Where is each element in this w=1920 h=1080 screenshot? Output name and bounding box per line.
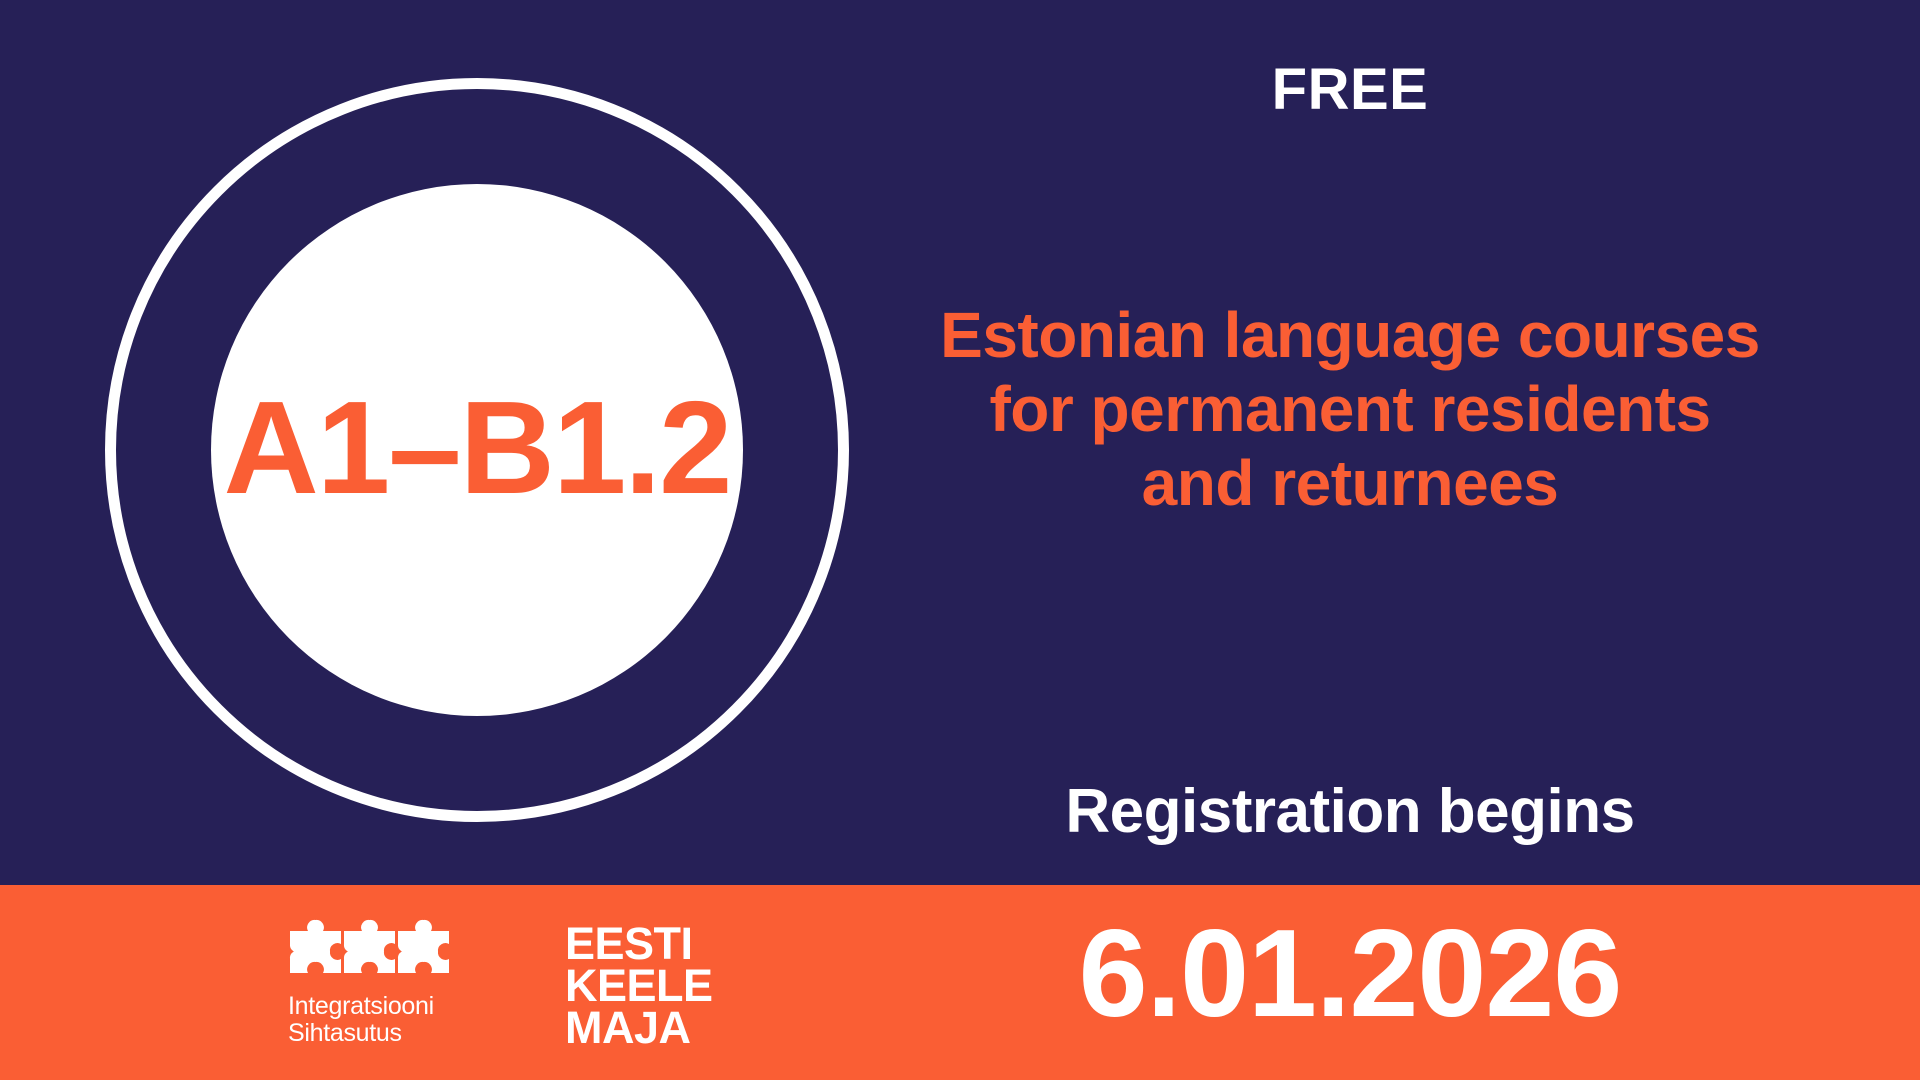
bottom-bar: Integratsiooni Sihtasutus EESTI KEELE MA… [0,885,1920,1080]
registration-date: 6.01.2026 [870,897,1830,1052]
headline-line-2: for permanent residents [870,372,1830,446]
free-label: FREE [870,58,1830,122]
integration-foundation-wordmark: Integratsiooni Sihtasutus [288,993,493,1047]
ekm-line-2: KEELE [565,965,725,1007]
ekm-line-1: EESTI [565,923,725,965]
badge-inner-disc: A1–B1.2 [211,184,743,716]
integration-foundation-line-2: Sihtasutus [288,1020,493,1047]
integration-foundation-logo: Integratsiooni Sihtasutus [288,917,493,1052]
headline-line-3: and returnees [870,446,1830,520]
puzzle-pieces-icon [288,917,484,987]
ekm-line-3: MAJA [565,1007,725,1049]
eesti-keele-maja-logo: EESTI KEELE MAJA [565,923,725,1049]
poster-canvas: A1–B1.2 FREE Estonian language courses f… [0,0,1920,1080]
integration-foundation-line-1: Integratsiooni [288,993,493,1020]
badge-level-label: A1–B1.2 [224,382,731,514]
registration-begins-label: Registration begins [870,778,1830,846]
level-badge: A1–B1.2 [105,78,849,822]
headline-line-1: Estonian language courses [870,298,1830,372]
headline: Estonian language courses for permanent … [870,298,1830,521]
right-content-column: FREE Estonian language courses for perma… [870,0,1870,885]
